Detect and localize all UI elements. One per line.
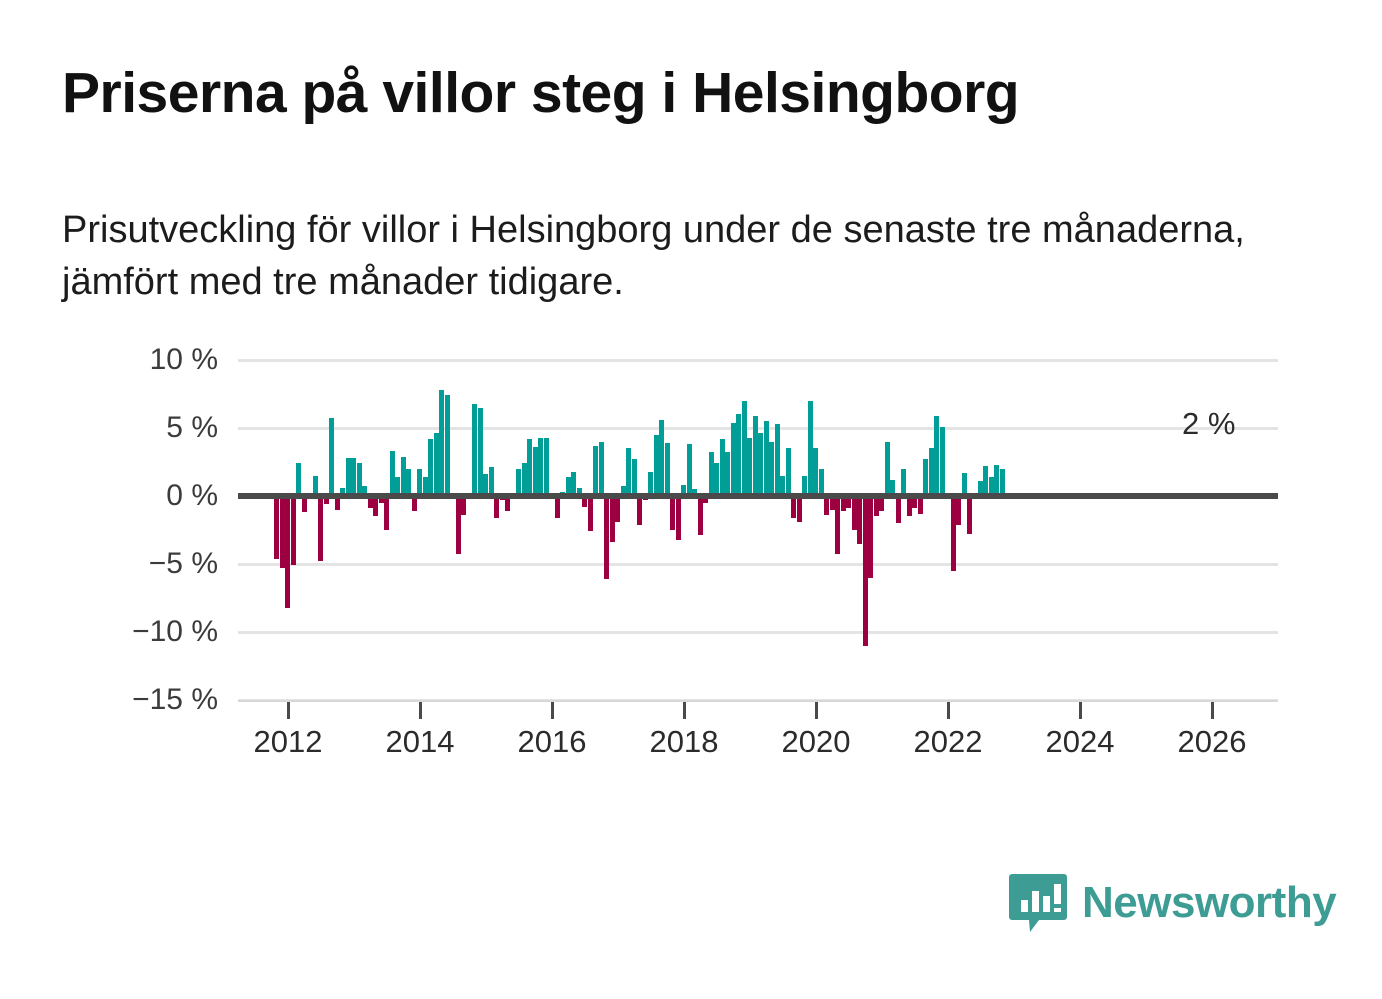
bar: [445, 395, 450, 496]
bar: [731, 423, 736, 496]
bar: [720, 439, 725, 496]
x-axis-tick: [815, 702, 818, 719]
bar: [274, 496, 279, 559]
bar: [813, 448, 818, 496]
bar: [835, 496, 840, 554]
bar: [632, 459, 637, 496]
bar: [401, 457, 406, 496]
bar: [533, 447, 538, 496]
bar: [654, 435, 659, 496]
bar: [351, 458, 356, 496]
bar: [797, 496, 802, 522]
bar: [615, 496, 620, 522]
page-title: Priserna på villor steg i Helsingborg: [62, 62, 1322, 126]
bar: [775, 424, 780, 496]
bar: [769, 442, 774, 496]
x-axis-tick-label: 2014: [386, 724, 455, 760]
bar-chart: 10 %5 %0 %−5 %−10 %−15 % 2 % 20122014201…: [0, 360, 1382, 780]
y-axis-tick-label: −10 %: [98, 615, 218, 649]
x-axis-tick-label: 2020: [782, 724, 851, 760]
gridline: [238, 563, 1278, 566]
bar: [318, 496, 323, 561]
gridline: [238, 359, 1278, 362]
bar: [687, 444, 692, 496]
bar: [406, 469, 411, 496]
zero-line: [238, 493, 1278, 499]
bar: [604, 496, 609, 579]
bar: [967, 496, 972, 534]
bar: [885, 442, 890, 496]
bar: [373, 496, 378, 516]
x-axis-tick-label: 2022: [914, 724, 983, 760]
bar: [434, 433, 439, 496]
bar: [808, 401, 813, 496]
y-axis-tick-label: −15 %: [98, 683, 218, 717]
x-axis-tick-label: 2024: [1046, 724, 1115, 760]
bar: [494, 496, 499, 518]
x-axis-tick: [947, 702, 950, 719]
bar: [736, 414, 741, 496]
gridline: [238, 631, 1278, 634]
bar: [522, 463, 527, 496]
bar: [747, 438, 752, 496]
bar: [857, 496, 862, 544]
bar: [709, 452, 714, 496]
y-axis-tick-label: 10 %: [98, 343, 218, 377]
x-axis-tick: [1079, 702, 1082, 719]
bar: [610, 496, 615, 542]
bar: [555, 496, 560, 518]
x-axis-tick-label: 2016: [518, 724, 587, 760]
newsworthy-logo[interactable]: Newsworthy: [1008, 872, 1336, 934]
bar: [478, 408, 483, 496]
bar: [346, 458, 351, 496]
bar: [593, 446, 598, 496]
bar: [940, 427, 945, 496]
bar: [296, 463, 301, 496]
bar: [428, 439, 433, 496]
x-axis-tick-label: 2026: [1178, 724, 1247, 760]
bar: [929, 448, 934, 496]
x-axis-tick-label: 2012: [254, 724, 323, 760]
bar: [670, 496, 675, 530]
y-axis-labels: 10 %5 %0 %−5 %−10 %−15 %: [98, 360, 218, 720]
bar: [599, 442, 604, 496]
bar: [934, 416, 939, 496]
bar: [923, 459, 928, 496]
bar: [852, 496, 857, 530]
bar-chart-bubble-icon: [1008, 872, 1068, 934]
plot-area: [238, 360, 1278, 700]
bar: [439, 390, 444, 496]
bar: [626, 448, 631, 496]
bar: [489, 467, 494, 496]
last-value-annotation: 2 %: [1182, 406, 1235, 442]
bar: [417, 469, 422, 496]
bar: [676, 496, 681, 540]
x-axis-tick-label: 2018: [650, 724, 719, 760]
bar: [390, 451, 395, 496]
bar: [659, 420, 664, 496]
bar: [786, 448, 791, 496]
bar: [791, 496, 796, 518]
gridline: [238, 427, 1278, 430]
bar: [874, 496, 879, 516]
bar: [714, 463, 719, 496]
bar: [725, 452, 730, 496]
bar: [544, 438, 549, 496]
bar: [665, 443, 670, 496]
y-axis-tick-label: −5 %: [98, 547, 218, 581]
y-axis-tick-label: 0 %: [98, 479, 218, 513]
bar: [329, 418, 334, 496]
bar: [357, 463, 362, 496]
logo-text: Newsworthy: [1082, 878, 1336, 928]
bar: [698, 496, 703, 535]
bar: [758, 433, 763, 496]
bar: [384, 496, 389, 530]
bar: [1000, 469, 1005, 496]
bar: [907, 496, 912, 516]
bar: [901, 469, 906, 496]
bar: [516, 469, 521, 496]
bar: [753, 416, 758, 496]
bar: [764, 421, 769, 496]
x-axis-tick: [551, 702, 554, 719]
bar: [456, 496, 461, 554]
bar: [588, 496, 593, 531]
bar: [527, 439, 532, 496]
y-axis-tick-label: 5 %: [98, 411, 218, 445]
bar: [819, 469, 824, 496]
bar: [742, 401, 747, 496]
x-axis-tick: [1211, 702, 1214, 719]
bar: [291, 496, 296, 565]
bar: [637, 496, 642, 525]
x-axis-line: [238, 700, 1278, 702]
bar: [280, 496, 285, 568]
bar: [868, 496, 873, 578]
bar: [863, 496, 868, 646]
x-axis-tick: [419, 702, 422, 719]
x-axis-tick: [287, 702, 290, 719]
bar: [951, 496, 956, 571]
x-axis-tick: [683, 702, 686, 719]
x-axis: 20122014201620182020202220242026: [238, 700, 1278, 780]
bar: [994, 465, 999, 496]
bar: [538, 438, 543, 496]
chart-subtitle: Prisutveckling för villor i Helsingborg …: [62, 205, 1332, 308]
bar: [472, 404, 477, 496]
bar: [285, 496, 290, 608]
bar: [896, 496, 901, 523]
bar: [956, 496, 961, 525]
bar: [983, 466, 988, 496]
